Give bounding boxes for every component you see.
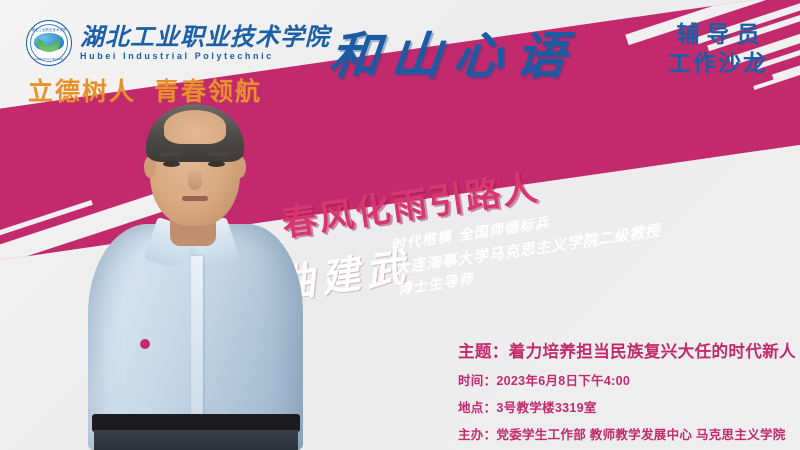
program-label-line-1: 辅导员 <box>668 20 768 49</box>
school-branding: 湖北工业职业技术学院 HUBEI POLYTECHNIC 湖北工业职业技术学院 … <box>26 20 330 66</box>
event-time: 时间：2023年6月8日下午4:00 <box>458 370 796 389</box>
event-place: 地点：3号教学楼3319室 <box>458 397 796 416</box>
crest-top-text: 湖北工业职业技术学院 <box>32 27 67 32</box>
speaker-portrait <box>78 96 308 450</box>
crest-globe <box>34 33 64 53</box>
event-details: 主题：着力培养担当民族复兴大任的时代新人 时间：2023年6月8日下午4:00 … <box>458 338 796 443</box>
school-slogan: 立德树人青春领航 <box>28 72 262 108</box>
portrait-mouth <box>182 196 208 201</box>
school-name-cn: 湖北工业职业技术学院 <box>80 25 330 49</box>
portrait-shirt-placket <box>191 256 203 416</box>
portrait-eye-right <box>208 161 225 167</box>
portrait-forehead <box>164 110 226 144</box>
portrait-trousers <box>94 430 298 450</box>
portrait-lapel-pin <box>140 339 150 349</box>
slogan-part-2: 青春领航 <box>154 78 262 106</box>
school-name-block: 湖北工业职业技术学院 Hubei Industrial Polytechnic <box>80 25 330 61</box>
event-organizers: 主办：党委学生工作部 教师教学发展中心 马克思主义学院 <box>458 424 796 443</box>
program-label: 辅导员 工作沙龙 <box>668 20 768 78</box>
crest-bottom-text: HUBEI POLYTECHNIC <box>33 57 64 61</box>
university-crest-icon: 湖北工业职业技术学院 HUBEI POLYTECHNIC <box>26 20 72 66</box>
portrait-eye-left <box>163 161 180 167</box>
poster-canvas: 春风化雨引路人 曲建武 时代楷模 全国师德标兵 大连海事大学马克思主义学院二级教… <box>0 0 800 450</box>
school-name-en: Hubei Industrial Polytechnic <box>80 52 330 61</box>
brand-title: 和山心语 <box>326 16 582 88</box>
program-label-line-2: 工作沙龙 <box>668 49 768 78</box>
portrait-nose <box>188 168 202 190</box>
slogan-part-1: 立德树人 <box>28 78 136 106</box>
event-topic: 主题：着力培养担当民族复兴大任的时代新人 <box>458 338 796 362</box>
